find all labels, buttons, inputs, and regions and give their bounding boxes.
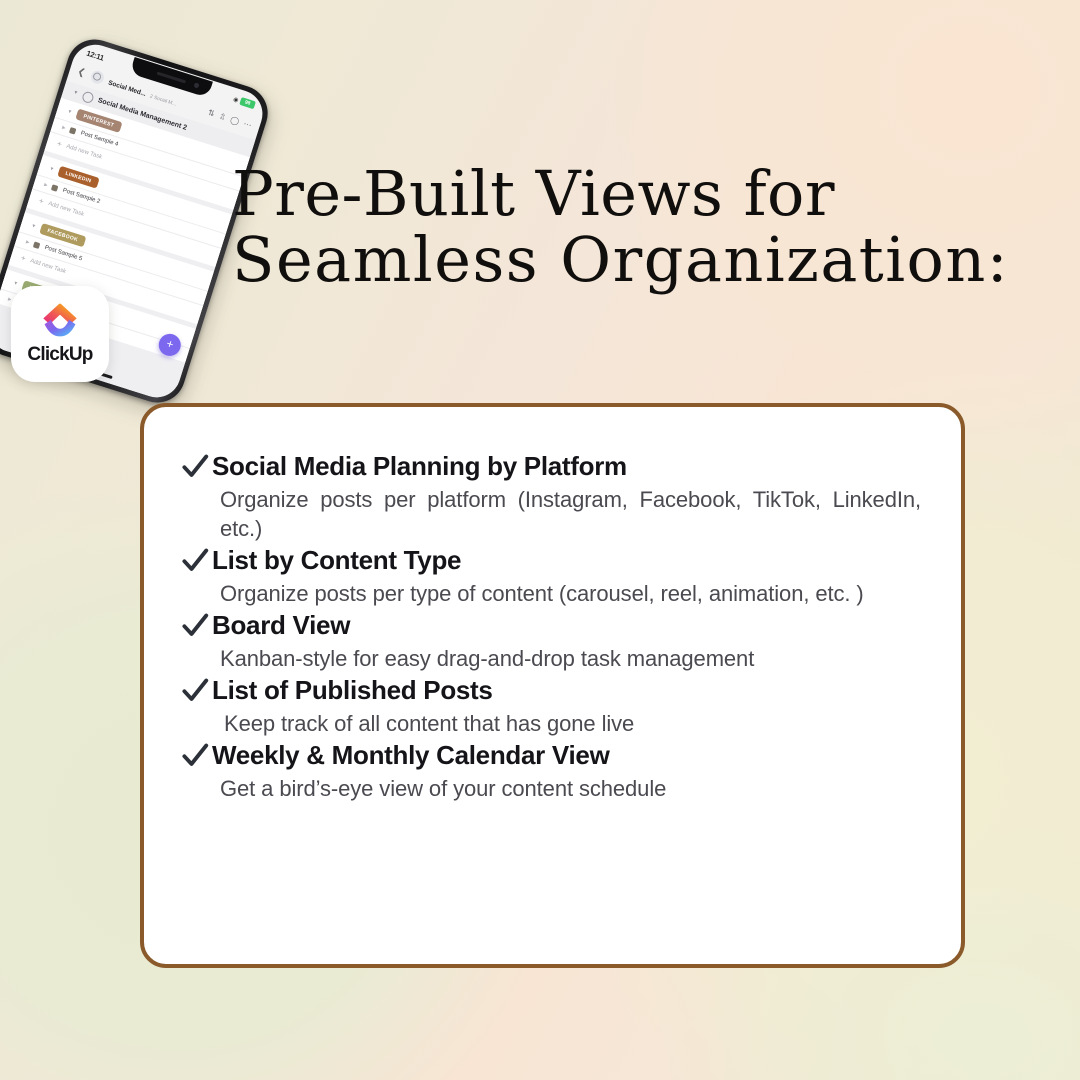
battery-icon: 98 xyxy=(239,97,256,109)
feature-title: Weekly & Monthly Calendar View xyxy=(212,740,610,771)
back-icon[interactable]: ❮ xyxy=(76,65,87,78)
check-icon xyxy=(180,741,210,771)
status-bar-time: 12:11 xyxy=(86,48,106,62)
chevron-down-icon[interactable]: ▼ xyxy=(12,280,19,287)
feature-item: List by Content Type Organize posts per … xyxy=(180,545,921,608)
headline-line-1: Pre-Built Views for xyxy=(232,163,1042,225)
clickup-mark-icon xyxy=(40,303,80,339)
task-status-icon xyxy=(69,127,77,135)
more-horizontal-icon[interactable]: ⋯ xyxy=(243,119,253,130)
share-icon[interactable]: ⇫ xyxy=(218,111,227,122)
check-icon xyxy=(180,611,210,641)
chevron-right-icon[interactable]: ▶ xyxy=(43,182,48,189)
feature-item: List of Published Posts Keep track of al… xyxy=(180,675,921,738)
check-icon xyxy=(180,546,210,576)
features-card: Social Media Planning by Platform Organi… xyxy=(140,403,965,968)
search-icon[interactable]: ◯ xyxy=(229,114,240,125)
task-status-icon xyxy=(51,184,59,192)
add-task-label: Add new Task xyxy=(29,258,66,275)
plus-icon[interactable]: + xyxy=(20,254,27,263)
chevron-down-icon[interactable]: ▼ xyxy=(67,108,74,115)
feature-description: Organize posts per platform (Instagram, … xyxy=(220,485,921,543)
feature-title: Board View xyxy=(212,610,350,641)
wifi-icon: ◉ xyxy=(232,95,239,103)
chevron-right-icon[interactable]: ▶ xyxy=(25,239,30,246)
chevron-down-icon[interactable]: ▼ xyxy=(30,222,37,229)
feature-item: Social Media Planning by Platform Organi… xyxy=(180,451,921,543)
front-camera-icon xyxy=(193,82,199,88)
chevron-down-icon[interactable]: ▼ xyxy=(48,165,55,172)
sort-icon[interactable]: ⇅ xyxy=(207,107,216,118)
circle-status-icon xyxy=(81,90,95,104)
plus-icon[interactable]: + xyxy=(38,197,45,206)
feature-title: Social Media Planning by Platform xyxy=(212,451,627,482)
feature-title: List by Content Type xyxy=(212,545,461,576)
clickup-logo-badge: ClickUp xyxy=(11,286,109,382)
toolbar-subtitle: 2 Social M... xyxy=(149,93,177,107)
chevron-down-icon[interactable]: ▼ xyxy=(72,89,79,96)
earpiece-speaker xyxy=(156,72,186,84)
feature-description: Kanban-style for easy drag-and-drop task… xyxy=(220,644,921,673)
feature-description: Keep track of all content that has gone … xyxy=(224,709,921,738)
feature-description: Get a bird’s-eye view of your content sc… xyxy=(220,774,921,803)
check-icon xyxy=(180,676,210,706)
feature-item: Board View Kanban-style for easy drag-an… xyxy=(180,610,921,673)
clickup-wordmark: ClickUp xyxy=(27,344,92,366)
list-status-icon[interactable] xyxy=(89,68,105,84)
task-status-icon xyxy=(33,242,41,250)
add-task-label: Add new Task xyxy=(65,144,102,161)
feature-description: Organize posts per type of content (caro… xyxy=(220,579,921,608)
headline-line-2: Seamless Organization: xyxy=(232,229,1042,291)
chevron-right-icon[interactable]: ▶ xyxy=(61,125,66,132)
feature-item: Weekly & Monthly Calendar View Get a bir… xyxy=(180,740,921,803)
check-icon xyxy=(180,452,210,482)
plus-icon[interactable]: + xyxy=(56,140,63,149)
feature-title: List of Published Posts xyxy=(212,675,493,706)
add-task-label: Add new Task xyxy=(47,201,84,218)
page-title: Pre-Built Views for Seamless Organizatio… xyxy=(232,163,1042,291)
